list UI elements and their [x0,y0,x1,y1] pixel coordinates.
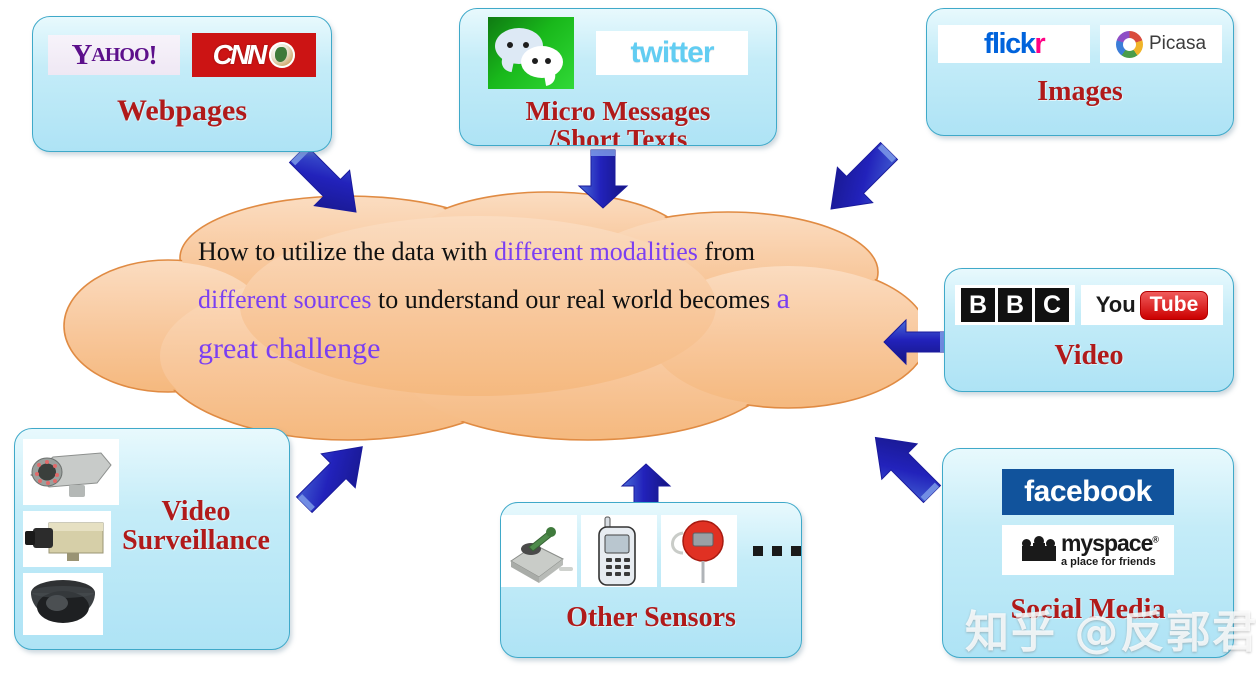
flickr-logo-pink: r [1034,28,1044,61]
arrow-video-to-cloud [880,316,950,368]
bullet-camera-photo [23,439,119,505]
facebook-logo-text: facebook [1024,475,1152,509]
source-box-webpages[interactable]: YAHOO! CNN Webpages [32,16,332,152]
flickr-logo: flickr [938,25,1090,63]
yahoo-logo-rest: AHOO [91,44,148,67]
source-label-micro-messages: Micro Messages /Short Texts [526,97,711,146]
yahoo-logo: YAHOO! [48,35,180,75]
source-box-video-surveillance[interactable]: Video Surveillance [14,428,290,650]
cloud-text-highlight-modalities: different modalities [494,237,698,266]
myspace-logo-word: myspace [1061,530,1152,556]
webpages-logo-row: YAHOO! CNN [48,33,316,77]
source-label-video-surveillance-line2: Surveillance [121,526,271,555]
cloud-text-part-1: How to utilize the data with [198,237,494,266]
video-logo-row: B B C You Tube [955,285,1223,325]
cnn-logo: CNN [192,33,316,77]
source-label-social-media: Social Media [1011,595,1166,624]
youtube-logo-you: You [1096,292,1136,318]
cloud-statement: How to utilize the data with different m… [198,230,798,374]
picasa-logo: Picasa [1100,25,1222,63]
picasa-logo-text: Picasa [1149,33,1206,55]
source-label-micro-messages-line1: Micro Messages [526,97,711,125]
source-box-video[interactable]: B B C You Tube Video [944,268,1234,392]
myspace-people-icon [1022,536,1056,564]
source-label-other-sensors: Other Sensors [566,603,736,632]
facebook-logo: facebook [1002,469,1174,515]
source-label-video-surveillance-line1: Video [121,497,271,526]
wechat-logo [488,17,574,89]
ellipsis-dots [753,546,801,556]
surveillance-photo-column [23,439,119,635]
myspace-logo-wordmark: myspace® [1061,532,1158,555]
wechat-bubble-small [521,46,563,78]
source-label-micro-messages-line2: /Short Texts [526,125,711,146]
arrow-micro-messages-to-cloud [575,146,631,212]
source-label-webpages: Webpages [117,95,247,127]
cloud-text-part-3: from [698,237,755,266]
images-logo-row: flickr Picasa [938,25,1222,63]
other-sensors-logo-row [501,515,801,587]
myspace-logo: myspace® a place for friends [1002,525,1174,575]
cloud-text-highlight-sources: different sources [198,285,372,314]
bbc-letter-3: C [1035,288,1069,322]
dome-camera-photo [23,573,103,635]
arrow-video-surveillance-to-cloud [282,432,386,518]
bbc-letter-1: B [961,288,995,322]
bbc-logo: B B C [955,285,1075,325]
youtube-logo-tube: Tube [1140,291,1209,320]
red-sensor-photo [661,515,737,587]
source-label-video-surveillance: Video Surveillance [121,497,271,556]
twitter-logo: twitter [596,31,748,75]
source-box-social-media[interactable]: facebook myspace® a place for friends So… [942,448,1234,658]
central-cloud: How to utilize the data with different m… [48,186,918,446]
myspace-logo-tagline: a place for friends [1061,557,1158,568]
diagram-canvas: How to utilize the data with different m… [0,0,1256,680]
myspace-logo-text-block: myspace® a place for friends [1061,532,1158,568]
micro-messages-logo-row: twitter [488,17,748,89]
mobile-phone-photo [581,515,657,587]
cnn-globe-icon [269,42,295,68]
pressure-sensor-photo [501,515,577,587]
source-label-images: Images [1037,77,1123,106]
source-box-other-sensors[interactable]: Other Sensors [500,502,802,658]
bbc-letter-2: B [998,288,1032,322]
yahoo-logo-bang: ! [149,40,157,71]
source-box-micro-messages[interactable]: twitter Micro Messages /Short Texts [459,8,777,146]
arrow-webpages-to-cloud [272,143,382,223]
cloud-text-part-5: to understand our real world becomes [372,285,777,314]
flickr-logo-blue: flick [984,28,1035,61]
picasa-shutter-icon [1116,31,1143,58]
twitter-logo-text: twitter [631,36,714,70]
source-label-video: Video [1055,341,1124,370]
cnn-logo-text: CNN [213,39,265,71]
arrow-images-to-cloud [805,140,915,220]
youtube-logo: You Tube [1081,285,1223,325]
box-camera-photo [23,511,111,567]
yahoo-logo-y: Y [71,39,91,72]
source-box-images[interactable]: flickr Picasa Images [926,8,1234,136]
